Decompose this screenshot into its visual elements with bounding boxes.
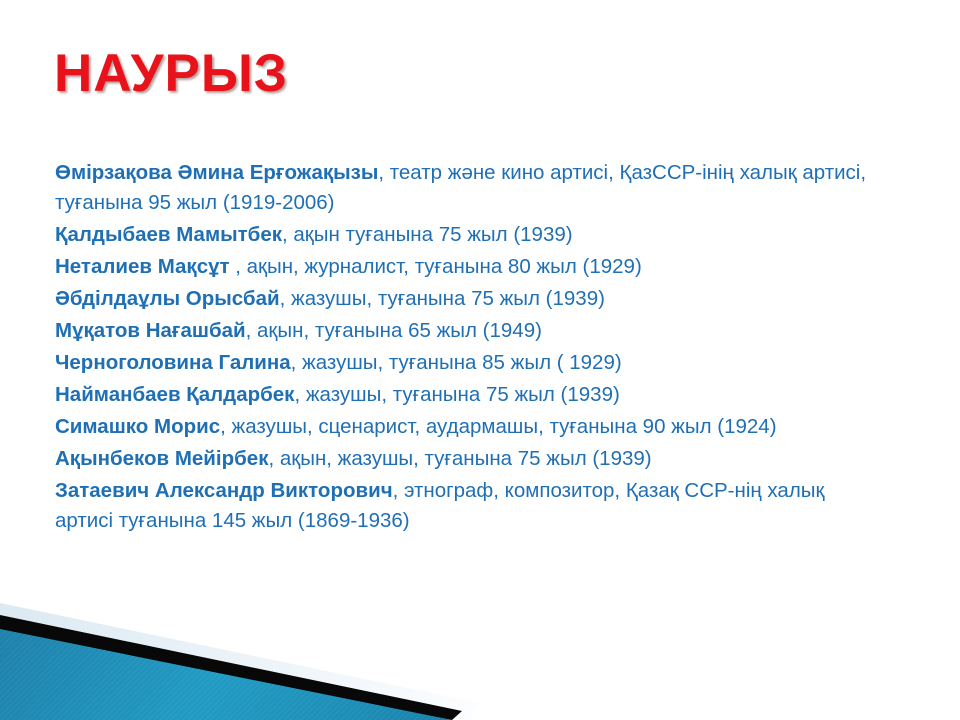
list-item: Әбділдаұлы Орысбай, жазушы, туғанына 75 …: [55, 284, 885, 314]
decoration-pale-band: [0, 585, 520, 720]
list-item: Найманбаев Қалдарбек, жазушы, туғанына 7…: [55, 380, 885, 410]
entry-description: , жазушы, туғанына 75 жыл (1939): [294, 383, 619, 406]
decoration-black-band: [0, 585, 520, 720]
list-item: Мұқатов Нағашбай, ақын, туғанына 65 жыл …: [55, 316, 885, 346]
list-item: Неталиев Мақсұт , ақын, журналист, туған…: [55, 252, 885, 282]
entry-description: , жазушы, туғанына 75 жыл (1939): [280, 287, 605, 310]
entry-person-name: Қалдыбаев Мамытбек: [55, 223, 282, 246]
entry-person-name: Найманбаев Қалдарбек: [55, 383, 294, 406]
corner-decoration: [0, 585, 520, 720]
entry-person-name: Мұқатов Нағашбай: [55, 319, 246, 342]
entry-description: , ақын, туғанына 65 жыл (1949): [246, 319, 542, 342]
slide-canvas: НАУРЫЗ Өмірзақова Әмина Ерғожақызы, теат…: [0, 0, 960, 720]
entry-person-name: Черноголовина Галина: [55, 351, 291, 374]
list-item: Черноголовина Галина, жазушы, туғанына 8…: [55, 348, 885, 378]
list-item: Ақынбеков Мейірбек, ақын, жазушы, туғаны…: [55, 444, 885, 474]
entry-person-name: Ақынбеков Мейірбек: [55, 447, 268, 470]
entry-description: , ақын туғанына 75 жыл (1939): [282, 223, 573, 246]
entry-person-name: Затаевич Александр Викторович: [55, 479, 393, 502]
entry-description: , ақын, жазушы, туғанына 75 жыл (1939): [268, 447, 651, 470]
page-title: НАУРЫЗ: [54, 46, 288, 102]
entry-person-name: Өмірзақова Әмина Ерғожақызы: [55, 161, 378, 184]
entry-description: , жазушы, сценарист, аудармашы, туғанына…: [220, 415, 776, 438]
list-item: Қалдыбаев Мамытбек, ақын туғанына 75 жыл…: [55, 220, 885, 250]
decoration-teal-wedge: [0, 585, 520, 720]
entry-person-name: Симашко Морис: [55, 415, 220, 438]
list-item: Симашко Морис, жазушы, сценарист, аударм…: [55, 412, 885, 442]
entry-person-name: Неталиев Мақсұт: [55, 255, 230, 278]
entry-description: , ақын, журналист, туғанына 80 жыл (1929…: [230, 255, 642, 278]
list-item: Өмірзақова Әмина Ерғожақызы, театр және …: [55, 158, 885, 218]
entry-person-name: Әбділдаұлы Орысбай: [55, 287, 280, 310]
entry-description: , жазушы, туғанына 85 жыл ( 1929): [291, 351, 622, 374]
list-item: Затаевич Александр Викторович, этнограф,…: [55, 476, 885, 536]
anniversary-list: Өмірзақова Әмина Ерғожақызы, театр және …: [55, 158, 885, 538]
